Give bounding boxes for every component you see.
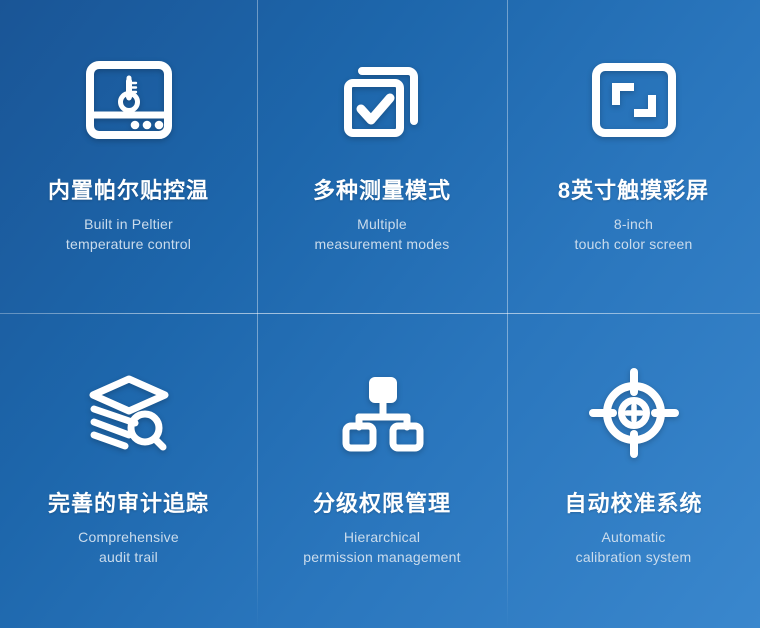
feature-title-en: Automatic calibration system <box>576 528 692 567</box>
feature-title-en-line1: Multiple <box>315 215 450 234</box>
feature-title-cn: 自动校准系统 <box>564 491 702 517</box>
feature-title-en: Comprehensive audit trail <box>78 528 179 567</box>
thermometer-monitor-icon <box>77 52 181 148</box>
feature-title-cn: 完善的审计追踪 <box>48 491 209 517</box>
feature-title-en-line2: permission management <box>303 548 461 567</box>
touch-screen-corners-icon <box>582 52 686 148</box>
feature-title-en: 8-inch touch color screen <box>575 215 693 254</box>
feature-title-en-line2: audit trail <box>78 548 179 567</box>
feature-title-en-line1: Automatic <box>576 528 692 547</box>
feature-title-en-line2: measurement modes <box>315 235 450 254</box>
feature-title-en-line1: Comprehensive <box>78 528 179 547</box>
feature-title-en-line1: Built in Peltier <box>66 215 191 234</box>
feature-cell-peltier-temperature-control: 内置帕尔贴控温 Built in Peltier temperature con… <box>0 0 257 313</box>
feature-cell-measurement-modes: 多种测量模式 Multiple measurement modes <box>257 0 507 313</box>
feature-title-en-line2: calibration system <box>576 548 692 567</box>
feature-grid-banner: 内置帕尔贴控温 Built in Peltier temperature con… <box>0 0 760 628</box>
layers-search-icon <box>77 365 181 461</box>
feature-title-en-line1: Hierarchical <box>303 528 461 547</box>
feature-title-en-line2: temperature control <box>66 235 191 254</box>
stacked-checkbox-icon <box>330 52 434 148</box>
hierarchy-org-chart-icon <box>330 365 434 461</box>
feature-cell-touch-screen: 8英寸触摸彩屏 8-inch touch color screen <box>507 0 760 313</box>
feature-title-en-line2: touch color screen <box>575 235 693 254</box>
feature-cell-audit-trail: 完善的审计追踪 Comprehensive audit trail <box>0 313 257 628</box>
feature-title-cn: 分级权限管理 <box>313 491 451 517</box>
feature-title-cn: 内置帕尔贴控温 <box>48 178 209 204</box>
feature-title-en-line1: 8-inch <box>575 215 693 234</box>
feature-title-cn: 多种测量模式 <box>313 178 451 204</box>
feature-cell-permission-management: 分级权限管理 Hierarchical permission managemen… <box>257 313 507 628</box>
feature-title-cn: 8英寸触摸彩屏 <box>558 178 709 204</box>
feature-grid: 内置帕尔贴控温 Built in Peltier temperature con… <box>0 0 760 628</box>
feature-cell-calibration-system: 自动校准系统 Automatic calibration system <box>507 313 760 628</box>
feature-title-en: Hierarchical permission management <box>303 528 461 567</box>
crosshair-target-icon <box>582 365 686 461</box>
feature-title-en: Multiple measurement modes <box>315 215 450 254</box>
feature-title-en: Built in Peltier temperature control <box>66 215 191 254</box>
